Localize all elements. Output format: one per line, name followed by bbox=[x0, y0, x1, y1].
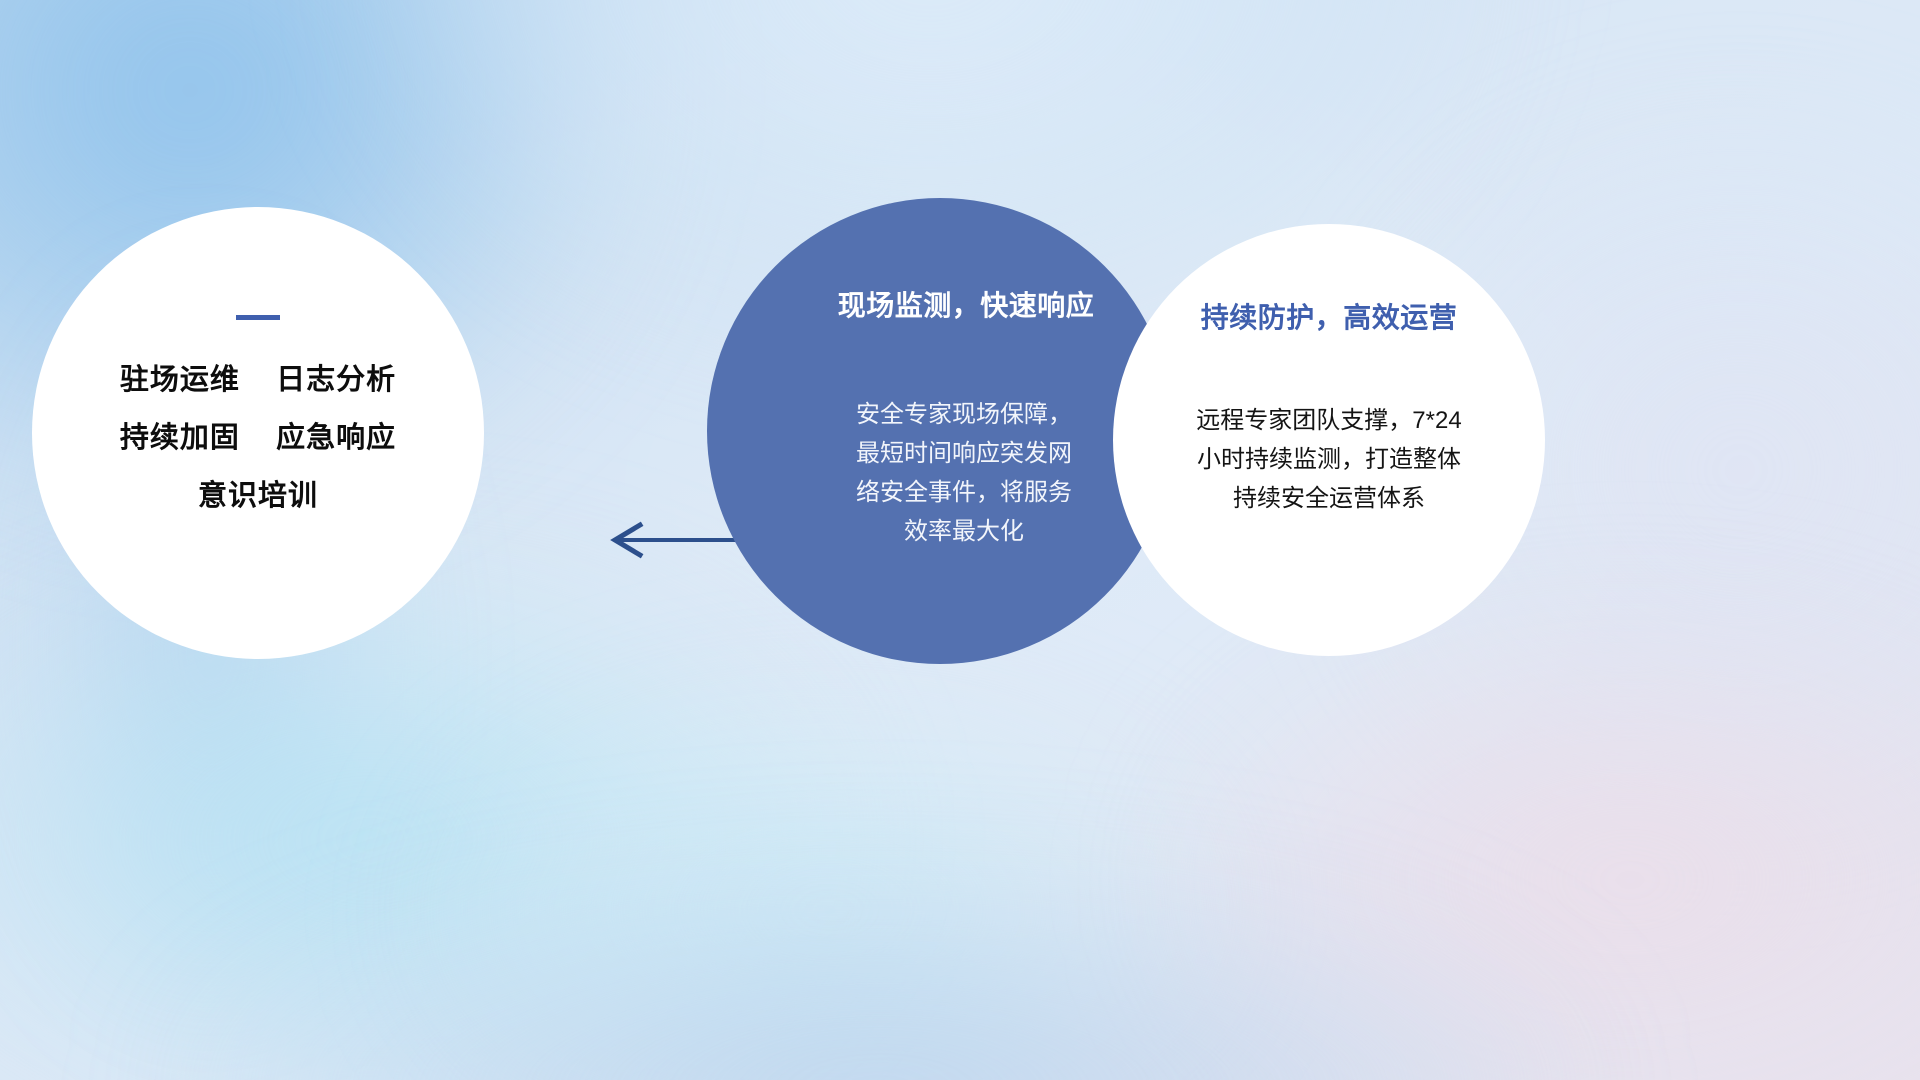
right-card-body: 远程专家团队支撑，7*24 小时持续监测，打造整体 持续安全运营体系 bbox=[1146, 402, 1512, 519]
middle-body-line-1: 安全专家现场保障， bbox=[814, 396, 1114, 435]
capability-card-left[interactable]: 驻场运维 日志分析 持续加固 应急响应 意识培训 bbox=[32, 207, 484, 659]
right-body-line-3: 持续安全运营体系 bbox=[1146, 480, 1512, 519]
divider-dash bbox=[236, 315, 280, 320]
middle-body-line-3: 络安全事件，将服务 bbox=[814, 474, 1114, 513]
middle-body-line-2: 最短时间响应突发网 bbox=[814, 435, 1114, 474]
right-body-line-2: 小时持续监测，打造整体 bbox=[1146, 441, 1512, 480]
capability-card-right[interactable]: 持续防护，高效运营 远程专家团队支撑，7*24 小时持续监测，打造整体 持续安全… bbox=[1113, 224, 1545, 656]
capability-line-2: 持续加固 应急响应 bbox=[120, 424, 396, 453]
capability-card-middle[interactable]: 现场监测，快速响应 安全专家现场保障， 最短时间响应突发网 络安全事件，将服务 … bbox=[707, 198, 1173, 664]
capability-line-1: 驻场运维 日志分析 bbox=[120, 366, 396, 395]
slide-canvas: 驻场运维 日志分析 持续加固 应急响应 意识培训 现场监测，快速响应 安全专家现… bbox=[0, 0, 1920, 1080]
right-card-title: 持续防护，高效运营 bbox=[1201, 296, 1458, 336]
middle-card-title: 现场监测，快速响应 bbox=[838, 284, 1095, 324]
middle-body-line-4: 效率最大化 bbox=[814, 513, 1114, 552]
capability-line-3: 意识培训 bbox=[198, 482, 318, 511]
right-body-line-1: 远程专家团队支撑，7*24 bbox=[1146, 402, 1512, 441]
middle-card-body: 安全专家现场保障， 最短时间响应突发网 络安全事件，将服务 效率最大化 bbox=[814, 396, 1114, 552]
